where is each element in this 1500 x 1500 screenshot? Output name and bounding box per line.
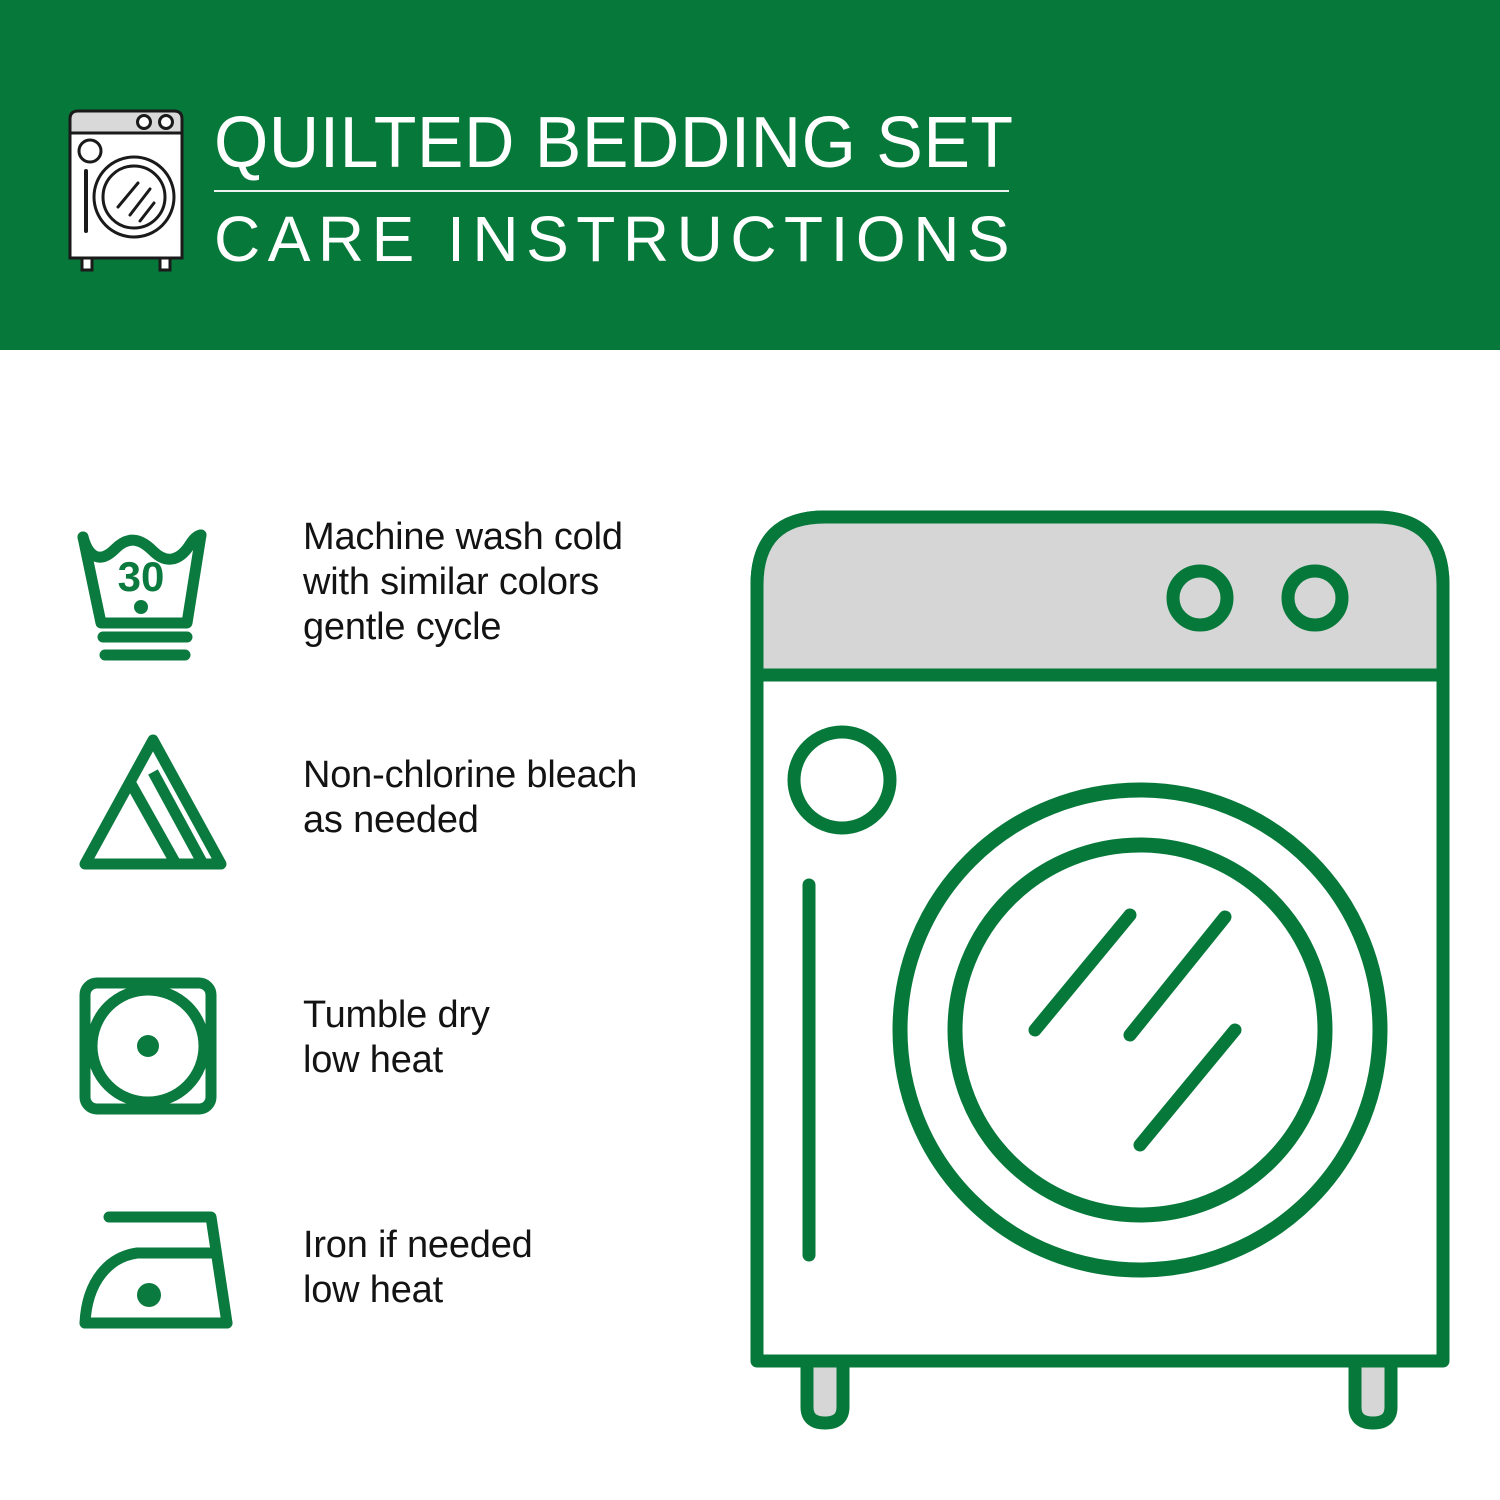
- care-item-label: Machine wash cold with similar colors ge…: [303, 515, 623, 650]
- care-item-label: Non-chlorine bleach as needed: [303, 753, 637, 843]
- page-title: QUILTED BEDDING SET: [214, 104, 1000, 182]
- front-load-washing-machine-illustration: [745, 505, 1455, 1415]
- leg-left: [807, 1361, 843, 1423]
- care-instructions-infographic: QUILTED BEDDING SET CARE INSTRUCTIONS 30: [0, 0, 1500, 1500]
- leg-right: [1355, 1361, 1391, 1423]
- tumble-dry-low-icon: [75, 975, 225, 1120]
- header-divider: [214, 190, 1009, 192]
- care-item-label: Iron if needed low heat: [303, 1223, 533, 1313]
- iron-low-heat-icon: [75, 1205, 240, 1335]
- header-banner: QUILTED BEDDING SET CARE INSTRUCTIONS: [0, 0, 1500, 350]
- wash-tub-30-icon: 30: [75, 525, 235, 665]
- header-text-block: QUILTED BEDDING SET CARE INSTRUCTIONS: [214, 104, 1024, 274]
- washing-machine-icon: [62, 103, 202, 268]
- page-subtitle: CARE INSTRUCTIONS: [214, 204, 1024, 274]
- care-instruction-list: 30 Machine wash cold with similar colors…: [0, 350, 720, 1500]
- non-chlorine-bleach-triangle-icon: [75, 730, 235, 875]
- wash-temperature-label: 30: [118, 553, 165, 600]
- care-item-label: Tumble dry low heat: [303, 993, 490, 1083]
